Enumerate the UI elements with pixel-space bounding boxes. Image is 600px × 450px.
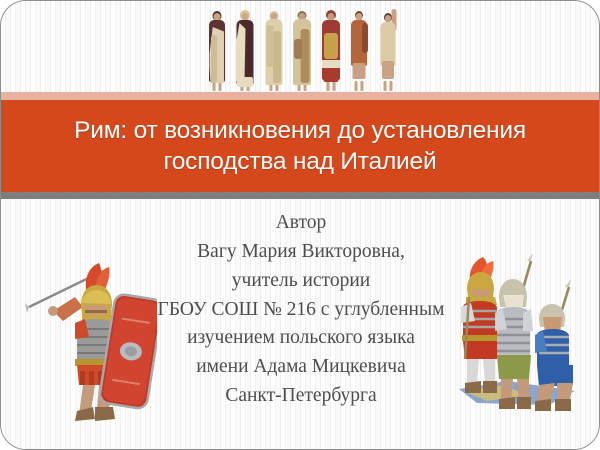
toga-figure-1 xyxy=(204,5,229,91)
title-banner: Рим: от возникновения до установления го… xyxy=(1,100,599,192)
city-line: Санкт-Петербурга xyxy=(91,382,511,411)
title-line-1: Рим: от возникновения до установления xyxy=(74,117,526,144)
toga-figure-5 xyxy=(318,5,343,91)
author-block: Автор Вагу Мария Викторовна, учитель ист… xyxy=(91,209,511,411)
page-title: Рим: от возникновения до установления го… xyxy=(56,115,544,178)
accent-strip-top xyxy=(1,92,599,100)
tunic-figure-6 xyxy=(347,5,372,91)
author-name: Вагу Мария Викторовна, xyxy=(91,238,511,267)
presentation-slide: Рим: от возникновения до установления го… xyxy=(0,0,600,450)
title-line-2: господства над Италией xyxy=(164,148,437,175)
divider-strip xyxy=(1,192,599,199)
school-line-3: имени Адама Мицкевича xyxy=(91,353,511,382)
school-line-1: ГБОУ СОШ № 216 с углубленным xyxy=(91,296,511,325)
school-line-2: изучением польского языка xyxy=(91,324,511,353)
tunic-figure-7 xyxy=(375,5,400,91)
author-role: учитель истории xyxy=(91,267,511,296)
toga-figure-3 xyxy=(261,5,286,91)
toga-figure-2 xyxy=(233,5,258,91)
toga-figure-4 xyxy=(290,5,315,91)
roman-citizens-illustration xyxy=(204,5,400,91)
author-line: Автор xyxy=(91,209,511,238)
